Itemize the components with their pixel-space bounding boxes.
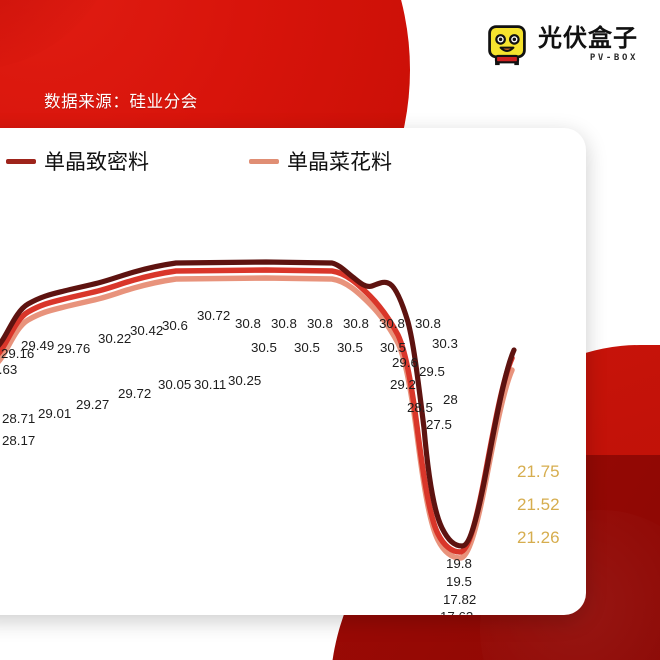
data-label-dark-1: 28.63 [0,362,17,377]
brand-logo: 光伏盒子 PV-BOX [485,22,638,66]
data-label-low-6: 30.05 [158,377,191,392]
data-label-mid-3: 30.5 [380,340,406,355]
legend-label-dense: 单晶致密料 [44,146,149,176]
legend-swatch-cauliflower [249,159,279,164]
data-label-dark-10: 30.8 [271,316,297,331]
line-chart-plot: 27.31 28.63 29.16 29.49 29.76 30.22 30.4… [0,180,586,615]
data-label-dark-7: 30.6 [162,318,188,333]
data-label-low-8: 30.25 [228,373,261,388]
data-label-mid-1: 30.5 [294,340,320,355]
data-label-dark-16: 29.6 [392,355,418,370]
data-label-mid-2: 30.5 [337,340,363,355]
data-label-mid-5: 28.5 [407,400,433,415]
brand-name: 光伏盒子 [538,26,638,50]
brand-subtitle: PV-BOX [590,54,638,63]
data-label-dec-0: 19.8 [446,556,472,571]
data-label-low-3: 29.01 [38,406,71,421]
legend-item-cauliflower[interactable]: 单晶菜花料 [249,146,392,176]
data-label-dark-8: 30.72 [197,308,230,323]
data-label-low-5: 29.72 [118,386,151,401]
chart-card: 单晶致密料 单晶菜花料 27.31 28.63 29.16 29.49 2 [0,128,586,615]
data-label-dark-3: 29.49 [21,338,54,353]
data-label-dark-18: 28 [443,392,458,407]
data-label-dark-6: 30.42 [130,323,163,338]
data-label-dec-1: 19.5 [446,574,472,589]
brand-text-block: 光伏盒子 PV-BOX [538,26,638,63]
decorative-red-highlight [0,0,120,70]
data-label-low-4: 29.27 [76,397,109,412]
data-label-dark-4: 29.76 [57,341,90,356]
data-label-low-2: 28.71 [2,411,35,426]
data-label-dec-2: 17.82 [443,592,476,607]
legend-swatch-dense [6,159,36,164]
data-label-dark-14: 30.8 [415,316,441,331]
data-label-low-7: 30.11 [194,377,226,392]
data-label-dark-12: 30.8 [343,316,369,331]
data-label-dark-13: 30.8 [379,316,405,331]
poster-canvas: 数据来源：硅业分会 光伏盒子 PV-BOX 单晶致密料 [0,0,660,660]
legend-label-cauliflower: 单晶菜花料 [287,146,392,176]
data-label-low-1: 28.17 [2,433,35,448]
chart-svg: 27.31 28.63 29.16 29.49 29.76 30.22 30.4… [0,180,586,615]
data-source-caption: 数据来源：硅业分会 [44,88,198,112]
data-label-dark-11: 30.8 [307,316,333,331]
chart-legend: 单晶致密料 单晶菜花料 [6,146,392,176]
robot-logo-icon [485,22,529,66]
data-label-dark-9: 30.8 [235,316,261,331]
data-label-dark-15: 30.3 [432,336,458,351]
data-label-dec-3: 17.62 [440,609,473,615]
legend-item-dense[interactable]: 单晶致密料 [6,146,149,176]
data-label-gold-0: 21.75 [517,462,560,481]
data-label-dark-5: 30.22 [98,331,131,346]
data-label-gold-1: 21.52 [517,495,560,514]
data-label-mid-0: 30.5 [251,340,277,355]
data-label-gold-2: 21.26 [517,528,560,547]
data-label-mid-4: 29.2 [390,377,416,392]
data-label-low-9: 27.5 [426,417,452,432]
data-label-dark-17: 29.5 [419,364,445,379]
